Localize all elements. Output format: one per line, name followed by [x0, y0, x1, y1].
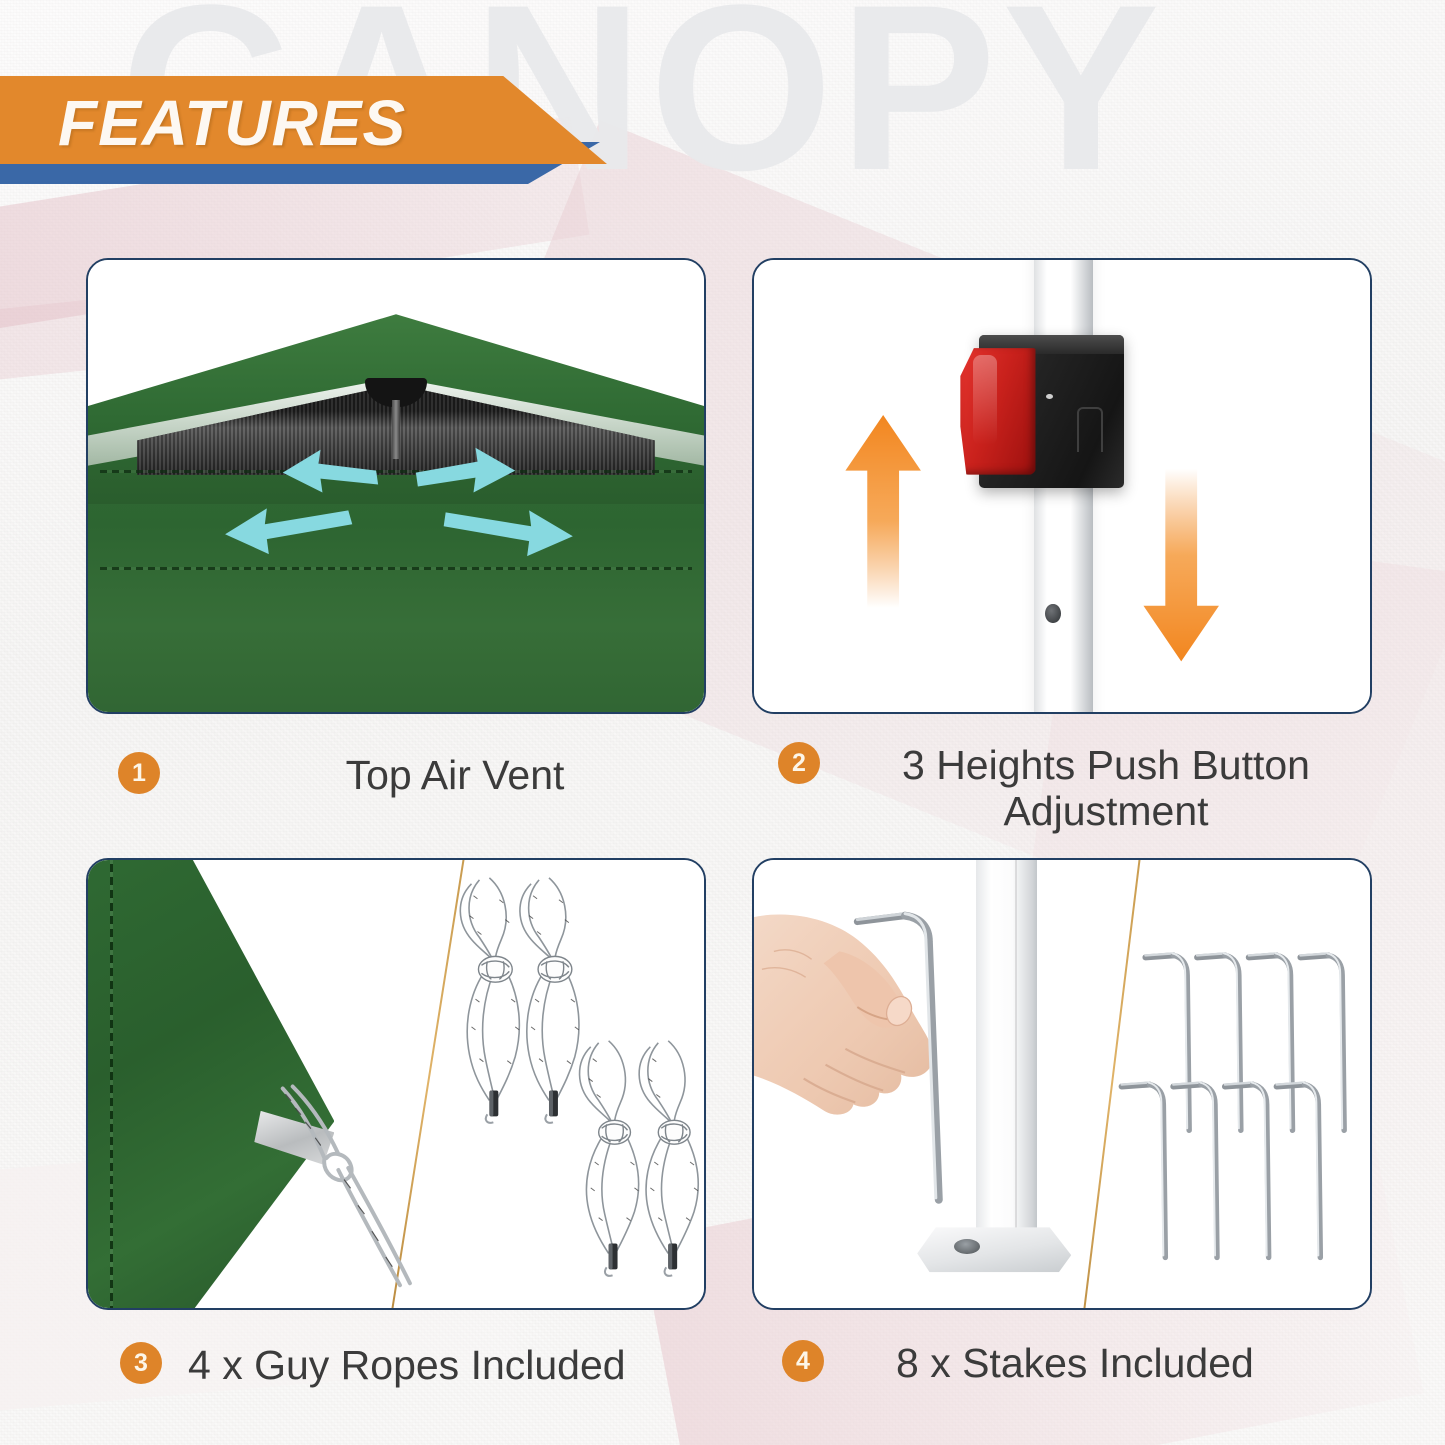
- feature-card-1: [86, 258, 706, 714]
- stake: [1197, 953, 1241, 1130]
- stake-row-top: [1145, 953, 1344, 1130]
- feature-badge-1: 1: [118, 752, 160, 794]
- stake: [1173, 1083, 1217, 1258]
- feature-caption-text-3: 4 x Guy Ropes Included: [176, 1342, 720, 1389]
- coiled-rope-bundles: [88, 860, 704, 1309]
- stake: [1225, 1083, 1269, 1258]
- feature-caption-2: 2 3 Heights Push Button Adjustment: [778, 742, 1378, 835]
- canopy-top-air-vent-photo: [86, 258, 706, 714]
- feature-card-3: [86, 858, 706, 1310]
- height-direction-arrows: [754, 260, 1370, 713]
- guy-ropes-photo: [86, 858, 706, 1310]
- feature-caption-text-2: 3 Heights Push Button Adjustment: [834, 742, 1378, 835]
- rope-bundle: [460, 878, 519, 1123]
- features-grid: 1 Top Air Vent 2 3 Heights Push Button A…: [0, 0, 1445, 1445]
- stake: [1122, 1083, 1166, 1258]
- feature-badge-4: 4: [782, 1340, 824, 1382]
- airflow-arrows: [88, 260, 704, 713]
- feature-caption-1: 1 Top Air Vent: [118, 752, 718, 799]
- feature-badge-2: 2: [778, 742, 820, 784]
- feature-card-4: [752, 858, 1372, 1310]
- feature-card-2: [752, 258, 1372, 714]
- feature-caption-text-4: 8 x Stakes Included: [838, 1340, 1382, 1387]
- push-button-height-adjustment-photo: [752, 258, 1372, 714]
- rope-bundle: [520, 878, 579, 1123]
- stake-set: [754, 860, 1370, 1309]
- rope-bundle: [639, 1041, 698, 1276]
- stake: [1277, 1083, 1321, 1258]
- rope-bundle: [580, 1041, 639, 1276]
- stakes-photo: [752, 858, 1372, 1310]
- stake: [1145, 953, 1189, 1130]
- feature-caption-4: 4 8 x Stakes Included: [782, 1340, 1382, 1387]
- stake: [1300, 953, 1344, 1130]
- feature-badge-3: 3: [120, 1342, 162, 1384]
- feature-caption-3: 3 4 x Guy Ropes Included: [120, 1342, 720, 1389]
- feature-caption-text-1: Top Air Vent: [174, 752, 718, 799]
- stake: [1249, 953, 1293, 1130]
